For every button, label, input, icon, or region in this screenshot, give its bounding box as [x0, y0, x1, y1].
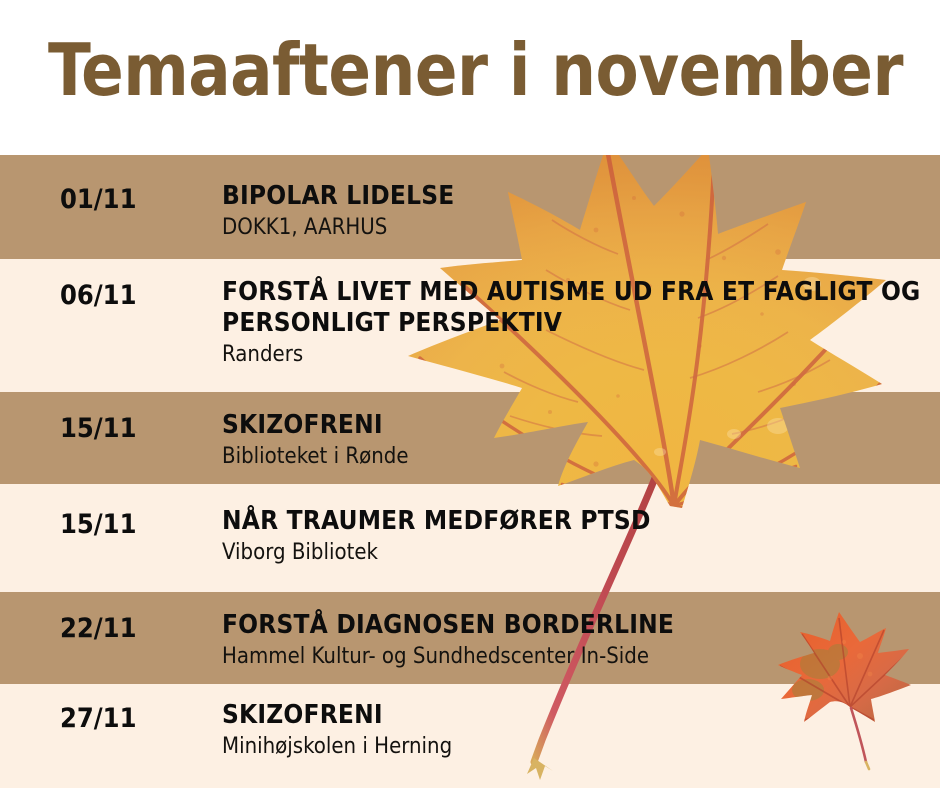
event-title: FORSTÅ LIVET MED AUTISME UD FRA ET FAGLI…: [222, 277, 922, 339]
event-body: FORSTÅ DIAGNOSEN BORDERLINEHammel Kultur…: [222, 610, 922, 671]
event-date: 06/11: [60, 281, 210, 311]
event-date: 01/11: [60, 185, 210, 215]
event-date: 22/11: [60, 614, 210, 644]
poster-canvas: Temaaftener i november 01/11BIPOLAR LIDE…: [0, 0, 940, 788]
event-date: 27/11: [60, 704, 210, 734]
event-row[interactable]: 06/11FORSTÅ LIVET MED AUTISME UD FRA ET …: [0, 259, 940, 392]
event-row[interactable]: 15/11NÅR TRAUMER MEDFØRER PTSDViborg Bib…: [0, 484, 940, 592]
event-title: NÅR TRAUMER MEDFØRER PTSD: [222, 506, 922, 537]
event-row[interactable]: 01/11BIPOLAR LIDELSEDOKK1, AARHUS: [0, 155, 940, 259]
event-title: SKIZOFRENI: [222, 700, 922, 731]
poster-header: Temaaftener i november: [0, 0, 940, 155]
event-title: BIPOLAR LIDELSE: [222, 181, 922, 212]
event-body: SKIZOFRENIMinihøjskolen i Herning: [222, 700, 922, 761]
event-body: BIPOLAR LIDELSEDOKK1, AARHUS: [222, 181, 922, 242]
event-body: FORSTÅ LIVET MED AUTISME UD FRA ET FAGLI…: [222, 277, 922, 369]
event-venue: Biblioteket i Rønde: [222, 443, 922, 471]
event-venue: Randers: [222, 341, 922, 369]
event-row[interactable]: 27/11SKIZOFRENIMinihøjskolen i Herning: [0, 684, 940, 788]
event-date: 15/11: [60, 510, 210, 540]
page-title: Temaaftener i november: [48, 22, 882, 118]
event-venue: DOKK1, AARHUS: [222, 214, 922, 242]
event-date: 15/11: [60, 414, 210, 444]
event-row[interactable]: 15/11SKIZOFRENIBiblioteket i Rønde: [0, 392, 940, 484]
event-body: SKIZOFRENIBiblioteket i Rønde: [222, 410, 922, 471]
event-venue: Minihøjskolen i Herning: [222, 733, 922, 761]
event-venue: Viborg Bibliotek: [222, 539, 922, 567]
event-row[interactable]: 22/11FORSTÅ DIAGNOSEN BORDERLINEHammel K…: [0, 592, 940, 684]
event-venue: Hammel Kultur- og Sundhedscenter In-Side: [222, 643, 922, 671]
event-title: FORSTÅ DIAGNOSEN BORDERLINE: [222, 610, 922, 641]
event-title: SKIZOFRENI: [222, 410, 922, 441]
event-body: NÅR TRAUMER MEDFØRER PTSDViborg Bibliote…: [222, 506, 922, 567]
